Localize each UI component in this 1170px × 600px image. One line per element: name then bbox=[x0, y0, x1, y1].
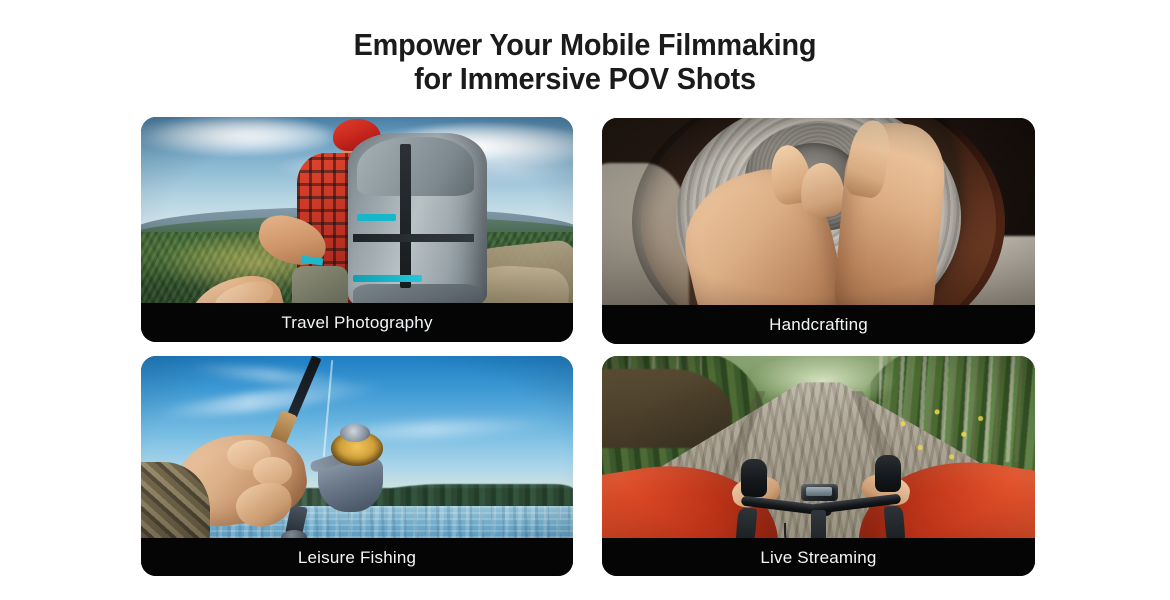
card-label-text: Handcrafting bbox=[769, 316, 868, 333]
card-label-bar: Live Streaming bbox=[602, 538, 1035, 576]
feature-card-handcrafting[interactable]: Handcrafting bbox=[602, 118, 1035, 344]
promo-banner: Empower Your Mobile Filmmaking for Immer… bbox=[0, 0, 1170, 600]
card-label-bar: Travel Photography bbox=[141, 303, 573, 342]
page-title-line-1: Empower Your Mobile Filmmaking bbox=[41, 28, 1129, 62]
card-label-text: Live Streaming bbox=[760, 549, 876, 566]
feature-card-live-streaming[interactable]: Live Streaming bbox=[602, 356, 1035, 576]
card-label-bar: Leisure Fishing bbox=[141, 538, 573, 576]
card-label-bar: Handcrafting bbox=[602, 305, 1035, 344]
feature-card-travel-photography[interactable]: Travel Photography bbox=[141, 117, 573, 342]
feature-card-leisure-fishing[interactable]: Leisure Fishing bbox=[141, 356, 573, 576]
page-title: Empower Your Mobile Filmmaking for Immer… bbox=[41, 28, 1129, 96]
card-label-text: Leisure Fishing bbox=[298, 549, 416, 566]
card-label-text: Travel Photography bbox=[281, 314, 432, 331]
page-title-line-2: for Immersive POV Shots bbox=[41, 62, 1129, 96]
